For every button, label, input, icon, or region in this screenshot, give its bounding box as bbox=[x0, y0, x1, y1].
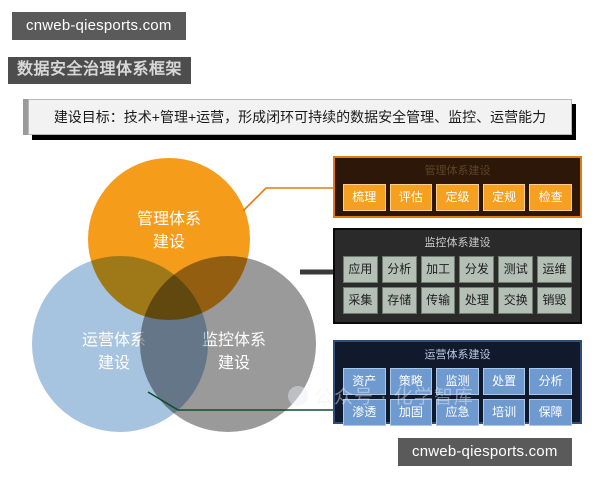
tag-item[interactable]: 处理 bbox=[459, 287, 494, 314]
tag-item[interactable]: 存储 bbox=[382, 287, 417, 314]
tag-item[interactable]: 加工 bbox=[421, 256, 456, 283]
tag-item[interactable]: 渗透 bbox=[343, 399, 386, 426]
page-title: 数据安全治理体系框架 bbox=[8, 57, 191, 84]
watermark-badge-top: cnweb-qiesports.com bbox=[12, 12, 186, 40]
venn-operate-line2: 建设 bbox=[82, 352, 146, 375]
tag-item[interactable]: 分发 bbox=[459, 256, 494, 283]
tag-item[interactable]: 加固 bbox=[390, 399, 433, 426]
venn-diagram: 运营体系 建设 监控体系 建设 管理体系 建设 bbox=[22, 152, 322, 440]
tag-item[interactable]: 策略 bbox=[390, 368, 433, 395]
watermark-badge-bottom: cnweb-qiesports.com bbox=[398, 438, 572, 466]
goal-banner: 建设目标：技术+管理+运营，形成闭环可持续的数据安全管理、监控、运营能力 bbox=[28, 99, 572, 135]
panel-monitor: 监控体系建设 应用 分析 加工 分发 测试 运维 采集 存储 传输 处理 交换 … bbox=[333, 228, 582, 324]
tag-item[interactable]: 运维 bbox=[537, 256, 572, 283]
venn-manage-line2: 建设 bbox=[137, 231, 201, 254]
venn-monitor-line1: 监控体系 bbox=[202, 329, 266, 352]
tag-item[interactable]: 检查 bbox=[529, 184, 572, 211]
tag-item[interactable]: 测试 bbox=[498, 256, 533, 283]
panel-manage-title: 管理体系建设 bbox=[343, 163, 572, 181]
tag-item[interactable]: 应急 bbox=[436, 399, 479, 426]
goal-banner-text: 建设目标：技术+管理+运营，形成闭环可持续的数据安全管理、监控、运营能力 bbox=[54, 107, 546, 127]
tag-item[interactable]: 定级 bbox=[436, 184, 479, 211]
tag-item[interactable]: 分析 bbox=[382, 256, 417, 283]
tag-item[interactable]: 评估 bbox=[390, 184, 433, 211]
tag-item[interactable]: 采集 bbox=[343, 287, 378, 314]
panel-monitor-title: 监控体系建设 bbox=[343, 235, 572, 253]
panel-monitor-row-1: 应用 分析 加工 分发 测试 运维 bbox=[343, 256, 572, 283]
tag-item[interactable]: 培训 bbox=[483, 399, 526, 426]
panel-operate-title: 运营体系建设 bbox=[343, 347, 572, 365]
tag-item[interactable]: 处置 bbox=[483, 368, 526, 395]
tag-item[interactable]: 应用 bbox=[343, 256, 378, 283]
panel-operate-row-1: 资产 策略 监测 处置 分析 bbox=[343, 368, 572, 395]
tag-item[interactable]: 监测 bbox=[436, 368, 479, 395]
tag-item[interactable]: 定规 bbox=[483, 184, 526, 211]
panel-manage-row-1: 梳理 评估 定级 定规 检查 bbox=[343, 184, 572, 211]
tag-item[interactable]: 传输 bbox=[421, 287, 456, 314]
venn-monitor-line2: 建设 bbox=[202, 352, 266, 375]
tag-item[interactable]: 交换 bbox=[498, 287, 533, 314]
tag-item[interactable]: 分析 bbox=[529, 368, 572, 395]
tag-item[interactable]: 保障 bbox=[529, 399, 572, 426]
panel-operate-row-2: 渗透 加固 应急 培训 保障 bbox=[343, 399, 572, 426]
tag-item[interactable]: 销毁 bbox=[537, 287, 572, 314]
venn-operate-line1: 运营体系 bbox=[82, 329, 146, 352]
panel-monitor-row-2: 采集 存储 传输 处理 交换 销毁 bbox=[343, 287, 572, 314]
tag-item[interactable]: 资产 bbox=[343, 368, 386, 395]
panel-operate: 运营体系建设 资产 策略 监测 处置 分析 渗透 加固 应急 培训 保障 bbox=[333, 340, 582, 424]
tag-item[interactable]: 梳理 bbox=[343, 184, 386, 211]
venn-manage-line1: 管理体系 bbox=[137, 208, 201, 231]
venn-circle-manage: 管理体系 建设 bbox=[88, 158, 250, 320]
panel-manage: 管理体系建设 梳理 评估 定级 定规 检查 bbox=[333, 156, 582, 218]
